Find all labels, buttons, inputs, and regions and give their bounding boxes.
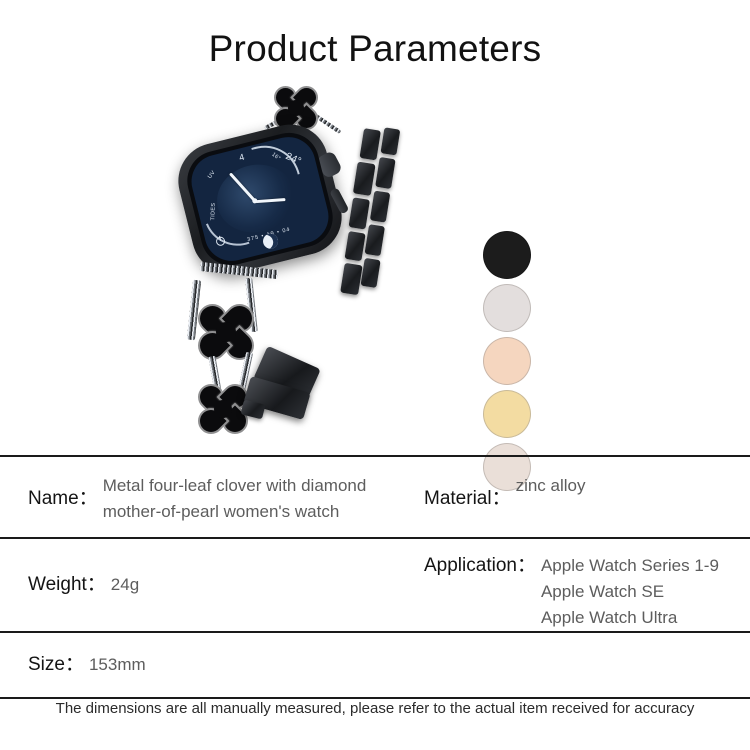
spec-cell-weight: Weight： 24g xyxy=(0,539,418,631)
table-row: Name： Metal four-leaf clover with diamon… xyxy=(0,457,750,539)
spec-label-material: Material： xyxy=(424,486,511,512)
hero-section: 4 UV 24° 16° TIDES 375 • 19 • 04 xyxy=(0,88,750,448)
spec-value-name: Metal four-leaf clover with diamond moth… xyxy=(98,473,367,525)
spec-value-material: zinc alloy xyxy=(511,473,586,499)
product-parameters-page: Product Parameters xyxy=(0,0,750,750)
clover-center xyxy=(214,400,232,418)
spec-cell-name: Name： Metal four-leaf clover with diamon… xyxy=(0,457,418,537)
table-row: Size： 153mm xyxy=(0,633,750,699)
band-link xyxy=(344,231,365,261)
band-link xyxy=(359,128,380,160)
spec-value-line: Apple Watch Ultra xyxy=(541,605,719,631)
table-row: Weight： 24g Application： Apple Watch Ser… xyxy=(0,539,750,633)
band-link xyxy=(370,191,390,223)
spec-cell-application: Application： Apple Watch Series 1-9 Appl… xyxy=(418,539,750,631)
band-link xyxy=(360,258,380,288)
band-link xyxy=(349,197,370,229)
spec-cell-size: Size： 153mm xyxy=(0,633,418,697)
clover-center xyxy=(288,100,304,116)
tide-label: TIDES xyxy=(210,202,217,220)
spec-label-size: Size： xyxy=(28,652,84,678)
watch-case: 4 UV 24° 16° TIDES 375 • 19 • 04 xyxy=(170,117,349,282)
spec-value-line: mother-of-pearl women's watch xyxy=(103,499,367,525)
spec-cell-material: Material： zinc alloy xyxy=(418,457,750,537)
band-link xyxy=(375,157,395,189)
spec-label-weight: Weight： xyxy=(28,572,106,598)
clover-charm-top xyxy=(274,86,318,130)
swatch-silver[interactable] xyxy=(483,284,531,332)
watch-screen: 4 UV 24° 16° TIDES 375 • 19 • 04 xyxy=(186,131,334,266)
page-title: Product Parameters xyxy=(0,28,750,70)
watch-bezel: 4 UV 24° 16° TIDES 375 • 19 • 04 xyxy=(181,127,339,272)
spec-value-application: Apple Watch Series 1-9 Apple Watch SE Ap… xyxy=(536,553,719,631)
swatch-gold[interactable] xyxy=(483,390,531,438)
spec-label-application: Application： xyxy=(424,553,536,579)
clover-charm-bottom xyxy=(198,384,248,434)
specifications-table: Name： Metal four-leaf clover with diamon… xyxy=(0,455,750,699)
spec-value-line: 153mm xyxy=(89,652,146,678)
band-link xyxy=(353,162,376,196)
spec-value-line: zinc alloy xyxy=(516,473,586,499)
spec-value-weight: 24g xyxy=(106,572,139,598)
band-link xyxy=(365,224,385,256)
measurement-disclaimer: The dimensions are all manually measured… xyxy=(0,700,750,717)
swatch-black[interactable] xyxy=(483,231,531,279)
spec-value-line: Metal four-leaf clover with diamond xyxy=(103,473,367,499)
spec-value-line: Apple Watch Series 1-9 xyxy=(541,553,719,579)
spec-cell-empty xyxy=(418,633,750,697)
product-photo: 4 UV 24° 16° TIDES 375 • 19 • 04 xyxy=(150,88,450,448)
uv-label: UV xyxy=(207,170,217,180)
spec-label-name: Name： xyxy=(28,486,98,512)
spec-value-size: 153mm xyxy=(84,652,146,678)
link-strap-right xyxy=(331,122,406,317)
band-link xyxy=(380,127,400,155)
spec-value-line: Apple Watch SE xyxy=(541,579,719,605)
swatch-rose-gold[interactable] xyxy=(483,337,531,385)
spec-value-line: 24g xyxy=(111,572,139,598)
clover-center xyxy=(216,322,236,342)
band-link xyxy=(340,263,362,295)
